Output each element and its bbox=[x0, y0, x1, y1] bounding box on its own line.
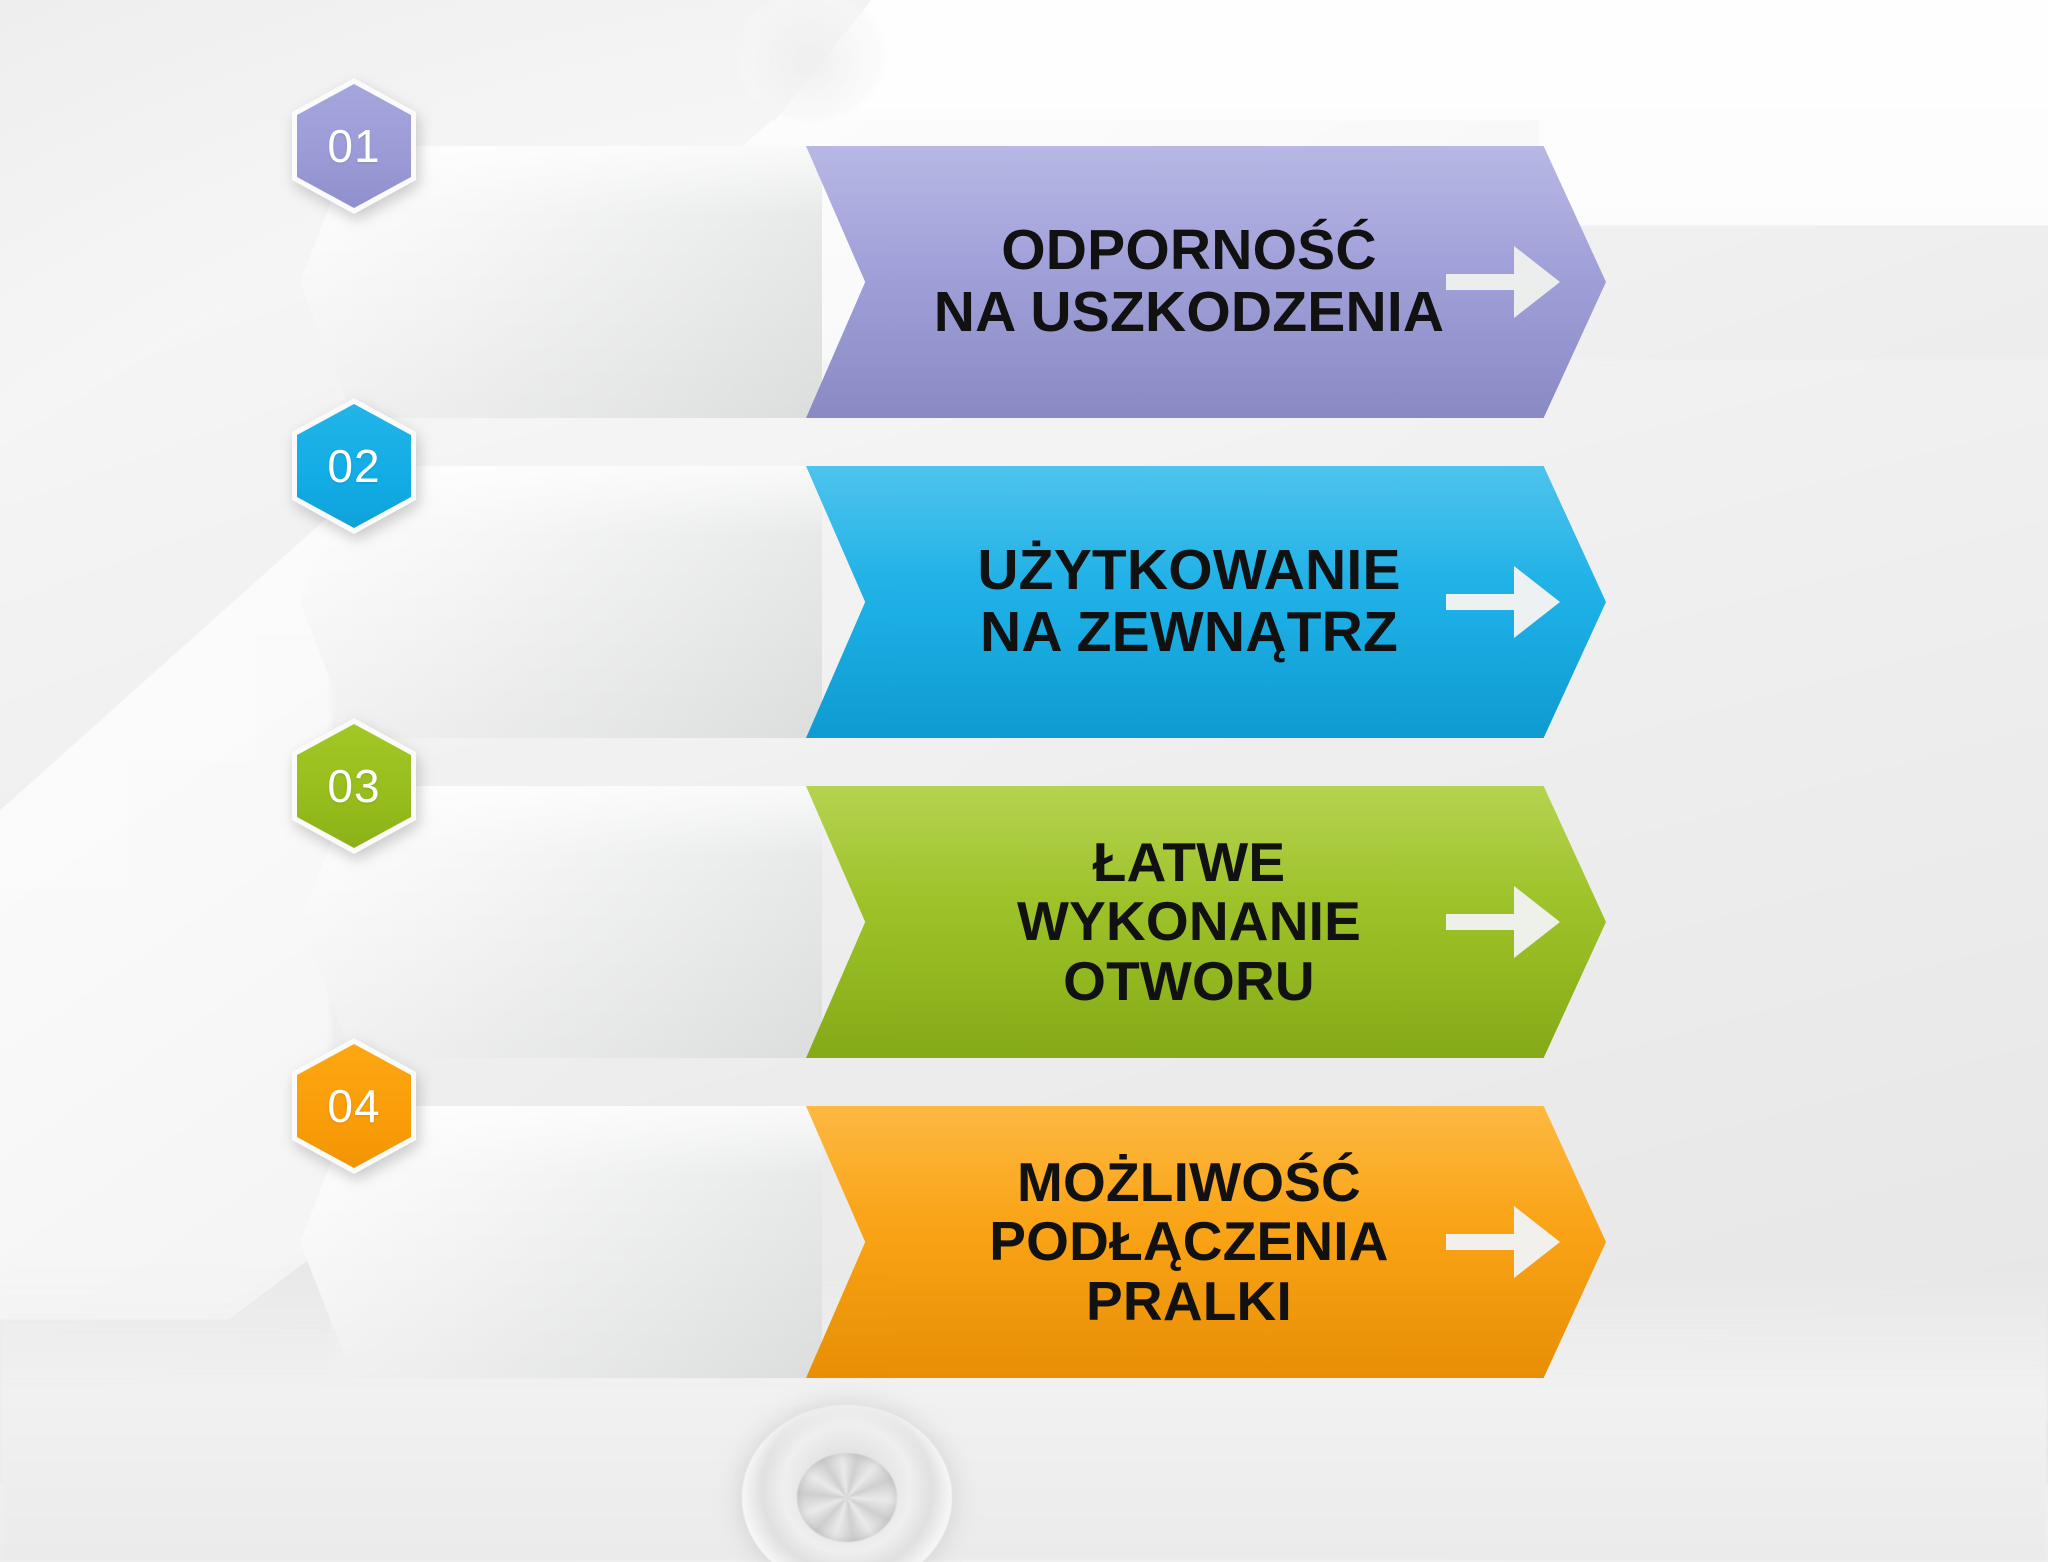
feature-row: MOŻLIWOŚĆ PODŁĄCZENIA PRALKI 04 bbox=[300, 1088, 1600, 1358]
feature-row: ODPORNOŚĆ NA USZKODZENIA 01 bbox=[300, 128, 1600, 398]
feature-band: ODPORNOŚĆ NA USZKODZENIA bbox=[806, 146, 1606, 418]
infographic-stage: ODPORNOŚĆ NA USZKODZENIA 01 bbox=[0, 0, 2048, 1562]
arrow-right-white-icon bbox=[1444, 1196, 1562, 1288]
badge-number: 02 bbox=[292, 398, 416, 534]
feature-band: MOŻLIWOŚĆ PODŁĄCZENIA PRALKI bbox=[806, 1106, 1606, 1378]
feature-band: UŻYTKOWANIE NA ZEWNĄTRZ bbox=[806, 466, 1606, 738]
feature-label: MOŻLIWOŚĆ PODŁĄCZENIA PRALKI bbox=[884, 1153, 1494, 1331]
step-number-badge: 03 bbox=[292, 718, 416, 854]
step-number-badge: 01 bbox=[292, 78, 416, 214]
feature-row: UŻYTKOWANIE NA ZEWNĄTRZ 02 bbox=[300, 448, 1600, 718]
step-number-badge: 02 bbox=[292, 398, 416, 534]
badge-number: 03 bbox=[292, 718, 416, 854]
step-number-badge: 04 bbox=[292, 1038, 416, 1174]
feature-row: ŁATWE WYKONANIE OTWORU 03 bbox=[300, 768, 1600, 1038]
arrow-right-white-icon bbox=[1444, 876, 1562, 968]
feature-label: UŻYTKOWANIE NA ZEWNĄTRZ bbox=[884, 540, 1494, 663]
feature-label: ŁATWE WYKONANIE OTWORU bbox=[884, 833, 1494, 1011]
feature-rows: ODPORNOŚĆ NA USZKODZENIA 01 bbox=[0, 0, 2048, 1562]
arrow-right-white-icon bbox=[1444, 236, 1562, 328]
arrow-right-white-icon bbox=[1444, 556, 1562, 648]
badge-number: 01 bbox=[292, 78, 416, 214]
feature-label: ODPORNOŚĆ NA USZKODZENIA bbox=[884, 220, 1494, 343]
badge-number: 04 bbox=[292, 1038, 416, 1174]
feature-band: ŁATWE WYKONANIE OTWORU bbox=[806, 786, 1606, 1058]
